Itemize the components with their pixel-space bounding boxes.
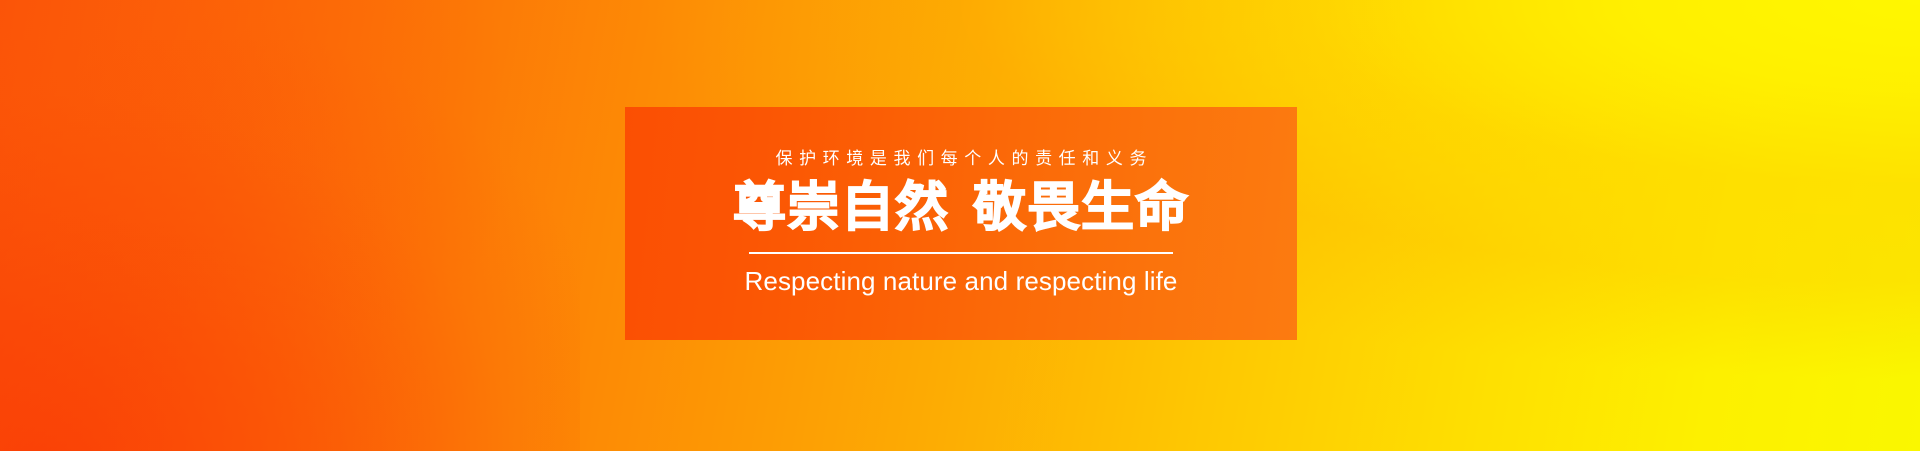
panel-headline: 尊崇自然敬畏生命 bbox=[733, 179, 1189, 236]
panel-subtitle: 保护环境是我们每个人的责任和义务 bbox=[769, 149, 1153, 169]
environmental-banner: 保护环境是我们每个人的责任和义务 尊崇自然敬畏生命 Respecting nat… bbox=[0, 0, 1920, 451]
headline-phrase-secondary: 敬畏生命 bbox=[973, 178, 1189, 237]
background-glow-top-left bbox=[0, 0, 500, 320]
headline-phrase-primary: 尊崇自然 bbox=[733, 178, 949, 237]
message-panel: 保护环境是我们每个人的责任和义务 尊崇自然敬畏生命 Respecting nat… bbox=[625, 107, 1297, 340]
panel-tagline-english: Respecting nature and respecting life bbox=[745, 266, 1178, 298]
message-panel-content: 保护环境是我们每个人的责任和义务 尊崇自然敬畏生命 Respecting nat… bbox=[625, 149, 1297, 297]
background-glow-left bbox=[0, 40, 580, 451]
panel-divider bbox=[749, 252, 1173, 254]
